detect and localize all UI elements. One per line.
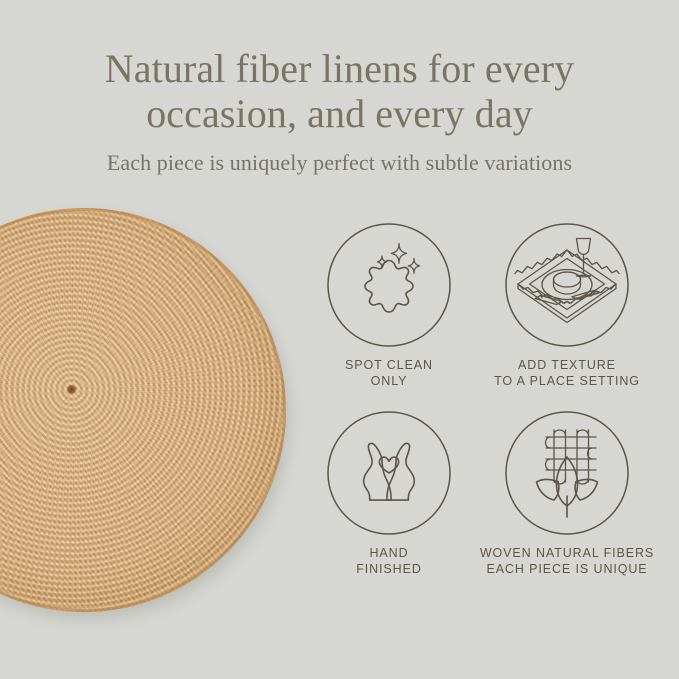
badge-label: WOVEN NATURAL FIBERS EACH PIECE IS UNIQU… (478, 545, 656, 577)
product-image (0, 208, 286, 612)
woven-leaf-icon (504, 410, 630, 536)
placemat-rim (0, 208, 286, 612)
woven-placemat (0, 208, 286, 612)
splat-sparkle-icon (326, 222, 452, 348)
page-subtitle: Each piece is uniquely perfect with subt… (0, 150, 679, 176)
badge-label: HAND FINISHED (300, 545, 478, 577)
badge-spot-clean: SPOT CLEAN ONLY (300, 222, 478, 389)
badge-hand-finished: HAND FINISHED (300, 410, 478, 577)
product-feature-graphic: Natural fiber linens for every occasion,… (0, 0, 679, 679)
badge-woven-fibers: WOVEN NATURAL FIBERS EACH PIECE IS UNIQU… (478, 410, 656, 577)
hands-heart-icon (326, 410, 452, 536)
page-title: Natural fiber linens for every occasion,… (0, 46, 679, 136)
feature-badge-grid: SPOT CLEAN ONLY (300, 222, 656, 577)
header: Natural fiber linens for every occasion,… (0, 0, 679, 176)
badge-row-1: SPOT CLEAN ONLY (300, 222, 656, 389)
badge-label: SPOT CLEAN ONLY (300, 357, 478, 389)
place-setting-icon (504, 222, 630, 348)
badge-row-2: HAND FINISHED (300, 410, 656, 577)
badge-add-texture: ADD TEXTURE TO A PLACE SETTING (478, 222, 656, 389)
badge-row-spacer (300, 389, 656, 410)
badge-label: ADD TEXTURE TO A PLACE SETTING (478, 357, 656, 389)
